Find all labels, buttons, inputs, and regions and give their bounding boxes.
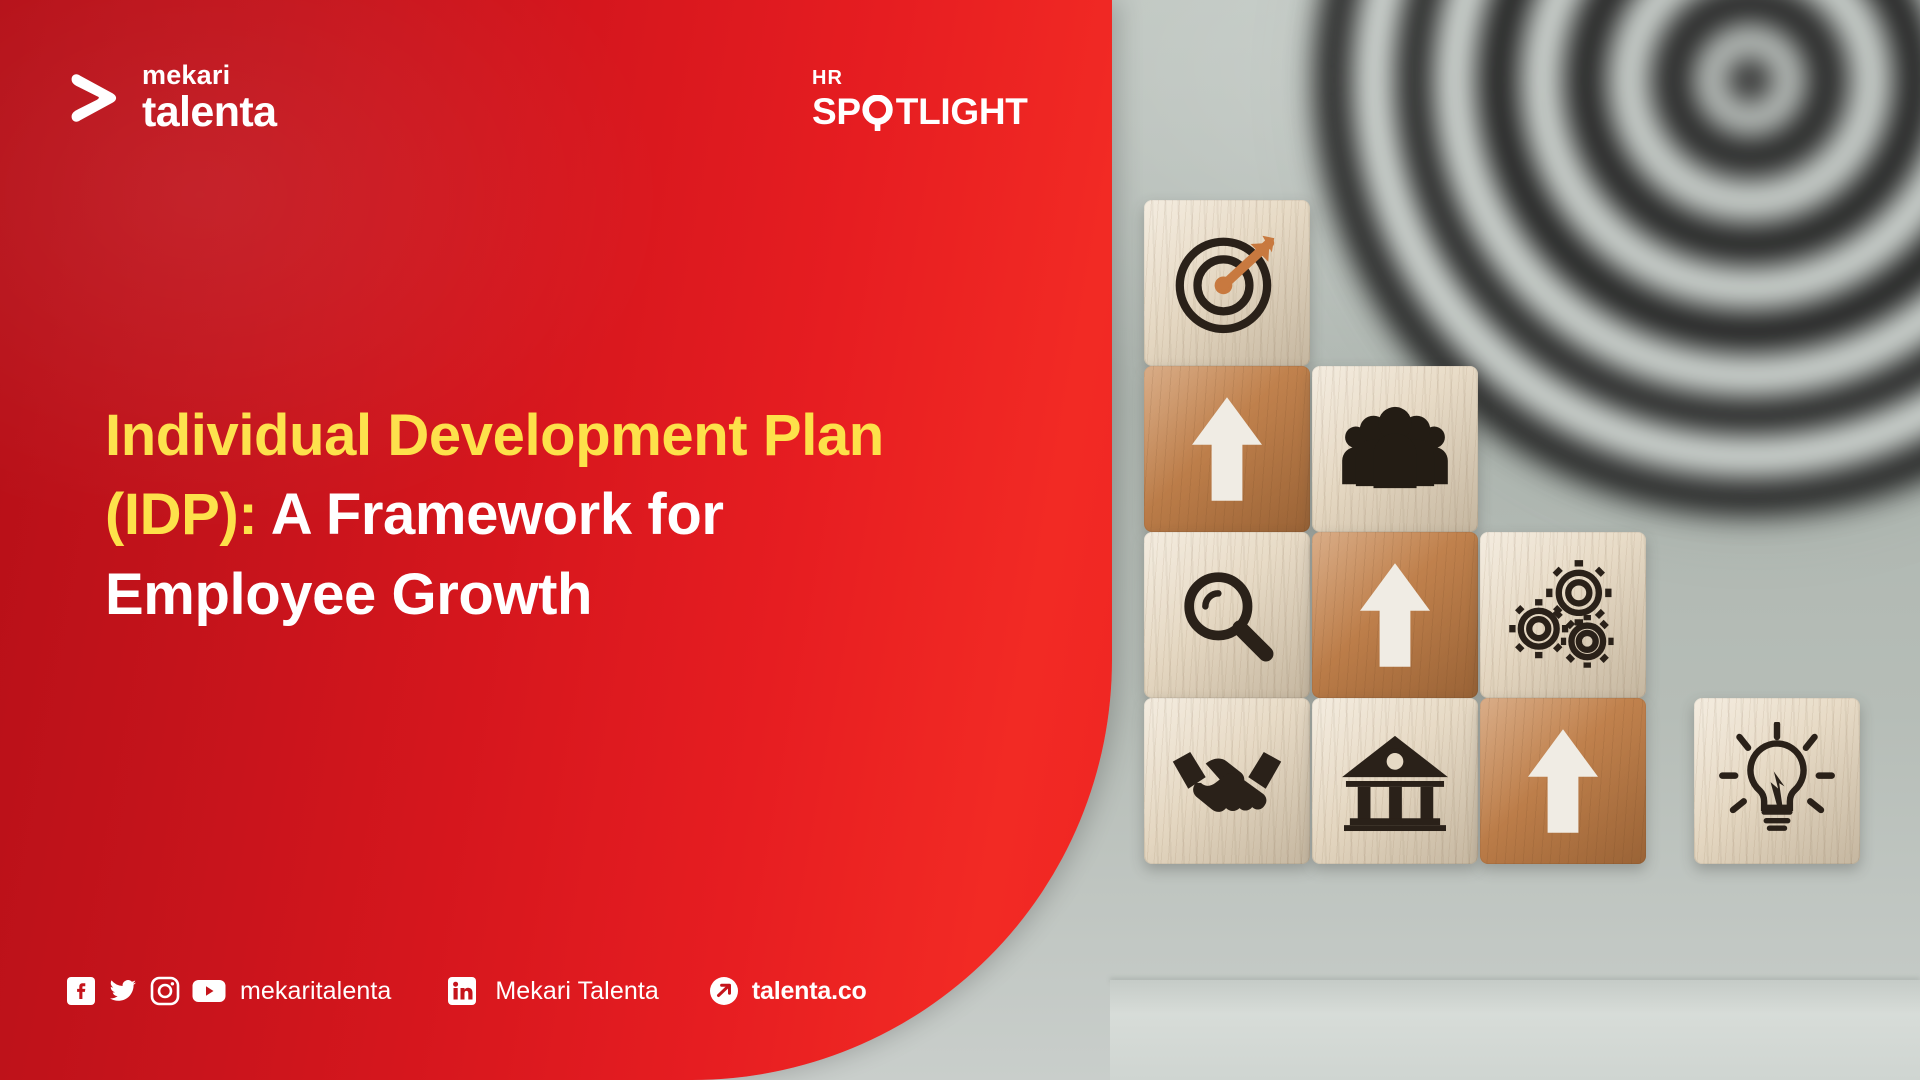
spotlight-text-after: TLIGHT (896, 93, 1028, 130)
magnifier-o-icon (862, 95, 895, 128)
social-footer: mekaritalenta Mekari Talenta (66, 976, 867, 1006)
poster-canvas: mekari talenta HR SP TLIGHT Individual D… (0, 0, 1920, 1080)
website-group[interactable]: talenta.co (709, 976, 867, 1006)
gears-icon (1505, 557, 1621, 673)
up-arrow-icon (1520, 725, 1606, 837)
linkedin-icon[interactable] (447, 976, 477, 1006)
logo-mekari-text: mekari (142, 62, 276, 89)
social-handle-group: mekaritalenta (66, 976, 391, 1006)
block-arrow-1 (1144, 366, 1310, 532)
up-arrow-icon (1352, 559, 1438, 671)
spotlight-text-before: SP (812, 93, 861, 130)
block-target (1144, 200, 1310, 366)
youtube-icon[interactable] (192, 976, 222, 1006)
hr-spotlight-badge: HR SP TLIGHT (812, 68, 1028, 130)
block-idea (1694, 698, 1860, 864)
linkedin-group: Mekari Talenta (447, 976, 659, 1006)
hr-eyebrow-text: HR (812, 68, 1028, 88)
logo-wordmark: mekari talenta (142, 62, 276, 134)
block-arrow-3 (1480, 698, 1646, 864)
instagram-icon[interactable] (150, 976, 180, 1006)
magnifier-icon (1173, 561, 1281, 669)
block-team (1312, 366, 1478, 532)
block-search (1144, 532, 1310, 698)
facebook-icon[interactable] (66, 976, 96, 1006)
social-handle-label: mekaritalenta (240, 977, 391, 1006)
block-bank (1312, 698, 1478, 864)
block-gears (1480, 532, 1646, 698)
people-group-icon (1336, 404, 1454, 494)
handshake-icon (1167, 742, 1287, 820)
linkedin-name-label: Mekari Talenta (495, 977, 659, 1006)
website-label: talenta.co (752, 977, 867, 1006)
up-arrow-icon (1184, 393, 1270, 505)
mekari-chevron-logo-icon (66, 70, 122, 126)
red-content-panel: mekari talenta HR SP TLIGHT Individual D… (0, 0, 1112, 1080)
lightbulb-icon (1718, 722, 1836, 840)
block-arrow-2 (1312, 532, 1478, 698)
bank-building-icon (1336, 730, 1454, 832)
arrow-circle-icon (709, 976, 739, 1006)
target-arrow-icon (1168, 224, 1286, 342)
logo-talenta-text: talenta (142, 91, 276, 134)
social-icon-row (66, 976, 222, 1006)
block-handshake (1144, 698, 1310, 864)
twitter-icon[interactable] (108, 976, 138, 1006)
mekari-talenta-logo[interactable]: mekari talenta (66, 62, 276, 134)
page-title: Individual Development Plan (IDP): A Fra… (105, 396, 985, 634)
spotlight-wordmark: SP TLIGHT (812, 93, 1028, 130)
